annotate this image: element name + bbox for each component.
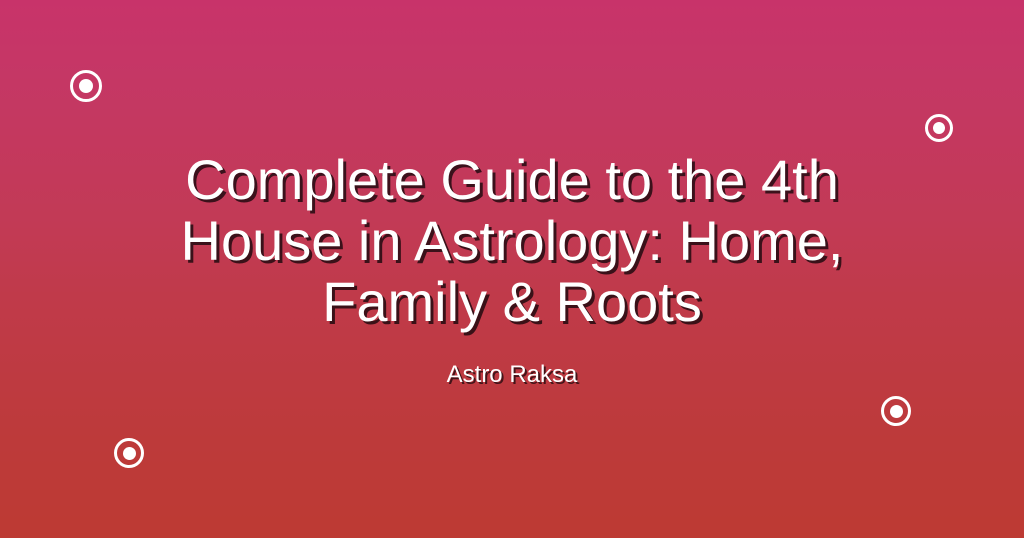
title-slide: Complete Guide to the 4th House in Astro… [0, 0, 1024, 538]
page-title: Complete Guide to the 4th House in Astro… [112, 149, 912, 332]
slide-content: Complete Guide to the 4th House in Astro… [0, 0, 1024, 538]
page-subtitle: Astro Raksa [447, 360, 578, 390]
